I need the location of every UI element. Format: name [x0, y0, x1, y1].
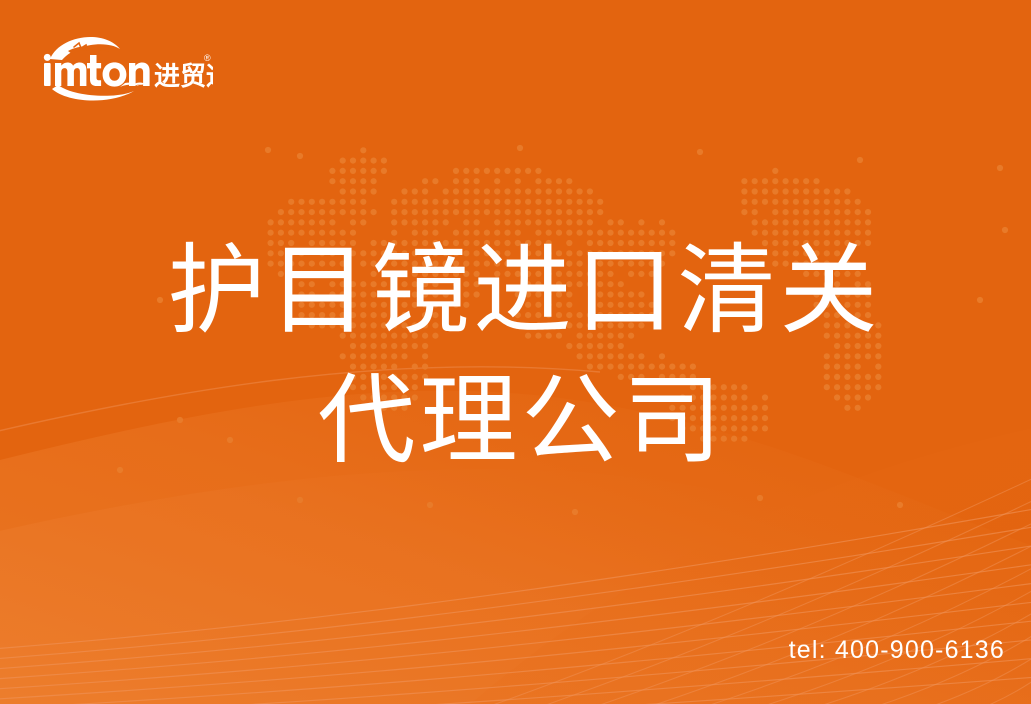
promo-banner: 进贸通 ® 护目镜进口清关 代理公司 tel: 400-900-6136: [0, 0, 1031, 704]
globe-arc-icon: [50, 37, 120, 60]
logo-wordmark-chinese: 进贸通: [154, 62, 213, 92]
telephone-label: tel: 400-900-6136: [789, 636, 1005, 665]
brand-logo[interactable]: 进贸通 ®: [38, 27, 213, 103]
background-decoration: [0, 0, 1031, 704]
registered-trademark-icon: ®: [204, 53, 211, 63]
